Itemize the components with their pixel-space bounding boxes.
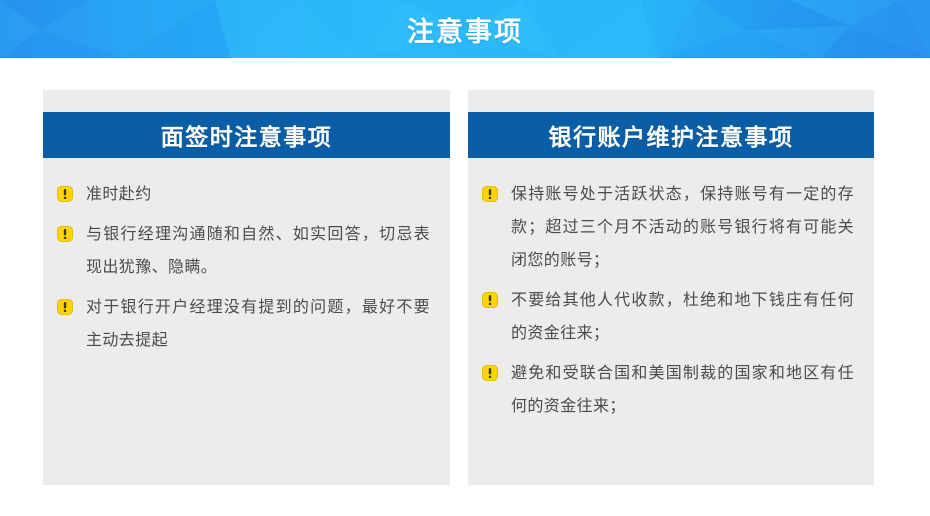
panel-left-header-text: 面签时注意事项 (161, 118, 333, 152)
list-item: 对于银行开户经理没有提到的问题，最好不要主动去提起 (57, 291, 430, 357)
warning-icon (57, 226, 73, 242)
list-item: 不要给其他人代收款，杜绝和地下钱庄有任何的资金往来； (482, 284, 854, 350)
panel-right-header-text: 银行账户维护注意事项 (549, 118, 794, 152)
panel-left: 面签时注意事项 准时赴约 (43, 90, 450, 485)
warning-icon (482, 186, 498, 202)
warning-icon (57, 186, 73, 202)
panel-left-body: 准时赴约 与银行经理沟通随和自然、如实回答，切忌表现出犹豫、隐瞒。 (43, 158, 450, 364)
list-item: 准时赴约 (57, 178, 430, 211)
list-item-text: 保持账号处于活跃状态，保持账号有一定的存款；超过三个月不活动的账号银行将有可能关… (511, 178, 854, 277)
panel-right-body: 保持账号处于活跃状态，保持账号有一定的存款；超过三个月不活动的账号银行将有可能关… (468, 158, 874, 430)
list-item-text: 与银行经理沟通随和自然、如实回答，切忌表现出犹豫、隐瞒。 (86, 218, 430, 284)
list-item-text: 对于银行开户经理没有提到的问题，最好不要主动去提起 (86, 291, 430, 357)
warning-icon (482, 365, 498, 381)
list-item-text: 不要给其他人代收款，杜绝和地下钱庄有任何的资金往来； (511, 284, 854, 350)
list-item: 保持账号处于活跃状态，保持账号有一定的存款；超过三个月不活动的账号银行将有可能关… (482, 178, 854, 277)
panel-right-header: 银行账户维护注意事项 (468, 112, 874, 158)
page-title: 注意事项 (0, 0, 930, 58)
panels-container: 面签时注意事项 准时赴约 (0, 58, 930, 516)
panel-left-header: 面签时注意事项 (43, 112, 450, 158)
list-item-text: 准时赴约 (86, 178, 430, 211)
list-item: 避免和受联合国和美国制裁的国家和地区有任何的资金往来； (482, 357, 854, 423)
page-banner: 注意事项 (0, 0, 930, 58)
panel-right: 银行账户维护注意事项 保持账号处于活跃状态，保持账号有一定的存款；超过三个月不活… (468, 90, 874, 485)
list-item-text: 避免和受联合国和美国制裁的国家和地区有任何的资金往来； (511, 357, 854, 423)
warning-icon (482, 292, 498, 308)
list-item: 与银行经理沟通随和自然、如实回答，切忌表现出犹豫、隐瞒。 (57, 218, 430, 284)
warning-icon (57, 299, 73, 315)
